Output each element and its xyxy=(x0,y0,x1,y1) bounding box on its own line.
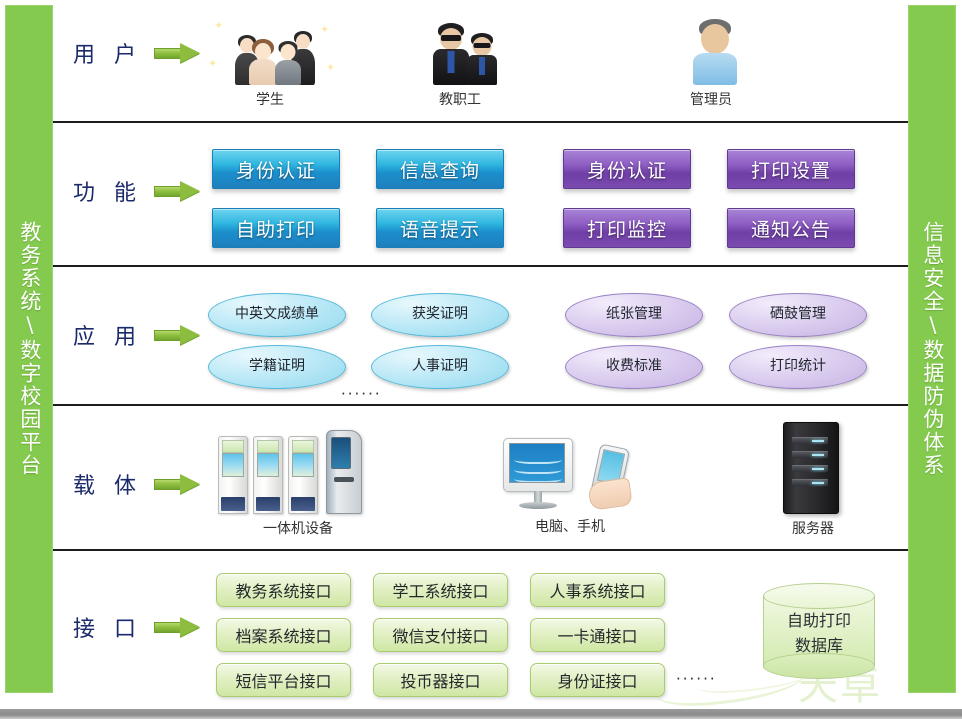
function-button-admin-identity-auth[interactable]: 身份认证 xyxy=(563,149,691,189)
row-interface: 接 口 教务系统接口 学工系统接口 人事系统接口 档案系统接口 微信支付接口 一… xyxy=(53,551,908,693)
row-label-function: 功 能 xyxy=(73,175,200,207)
interface-button-sms-platform[interactable]: 短信平台接口 xyxy=(216,663,351,697)
application-paper-management[interactable]: 纸张管理 xyxy=(565,293,703,337)
computer-and-phone-icon xyxy=(485,426,655,512)
function-button-print-monitor[interactable]: 打印监控 xyxy=(563,208,691,248)
row-label-carrier-text: 载 体 xyxy=(73,468,142,500)
row-label-application: 应 用 xyxy=(73,319,200,351)
application-personnel-proof[interactable]: 人事证明 xyxy=(371,345,509,389)
self-service-print-database: 自助打印 数据库 xyxy=(763,583,875,679)
application-ellipsis: ······ xyxy=(341,385,382,403)
row-label-function-text: 功 能 xyxy=(73,175,142,207)
application-fee-standard[interactable]: 收费标准 xyxy=(565,345,703,389)
arrow-right-icon xyxy=(154,326,200,344)
carrier-kiosk-caption: 一体机设备 xyxy=(208,518,388,538)
application-print-statistics[interactable]: 打印统计 xyxy=(729,345,867,389)
row-user: 用 户 ✦ ✦ ✦ ✦ xyxy=(53,5,908,123)
user-staff: 教职工 xyxy=(380,13,540,109)
application-toner-management[interactable]: 硒鼓管理 xyxy=(729,293,867,337)
architecture-diagram: 天卓 教务系统\数字校园平台 信息安全\数据防伪体系 用 户 ✦ ✦ ✦ ✦ xyxy=(0,0,962,719)
function-button-self-print[interactable]: 自助打印 xyxy=(212,208,340,248)
row-application: 应 用 中英文成绩单 获奖证明 学籍证明 人事证明 纸张管理 硒鼓管理 收费标准… xyxy=(53,267,908,406)
carrier-server: 服务器 xyxy=(743,418,883,538)
application-award-certificate[interactable]: 获奖证明 xyxy=(371,293,509,337)
row-function: 功 能 身份认证 信息查询 自助打印 语音提示 身份认证 打印设置 打印监控 通… xyxy=(53,123,908,267)
arrow-right-icon xyxy=(154,182,200,200)
interface-button-personnel-system[interactable]: 人事系统接口 xyxy=(530,573,665,607)
arrow-right-icon xyxy=(154,475,200,493)
right-banner-text: 信息安全\数据防伪体系 xyxy=(918,221,946,477)
bottom-strip xyxy=(0,709,962,719)
function-button-print-settings[interactable]: 打印设置 xyxy=(727,149,855,189)
left-vertical-banner: 教务系统\数字校园平台 xyxy=(5,5,53,693)
administrator-icon xyxy=(631,13,791,87)
interface-button-wechat-pay[interactable]: 微信支付接口 xyxy=(373,618,508,652)
row-label-interface: 接 口 xyxy=(73,611,200,643)
database-label-line1: 自助打印 xyxy=(763,609,875,634)
user-students-caption: 学生 xyxy=(190,89,350,109)
function-button-identity-auth[interactable]: 身份认证 xyxy=(212,149,340,189)
interface-button-academic-system[interactable]: 教务系统接口 xyxy=(216,573,351,607)
carrier-kiosk: 一体机设备 xyxy=(208,422,388,538)
row-label-interface-text: 接 口 xyxy=(73,611,142,643)
row-label-carrier: 载 体 xyxy=(73,468,200,500)
kiosk-terminal-icon xyxy=(208,422,388,514)
function-button-notice-bulletin[interactable]: 通知公告 xyxy=(727,208,855,248)
interface-button-coin-acceptor[interactable]: 投币器接口 xyxy=(373,663,508,697)
function-button-info-query[interactable]: 信息查询 xyxy=(376,149,504,189)
row-label-application-text: 应 用 xyxy=(73,319,142,351)
user-staff-caption: 教职工 xyxy=(380,89,540,109)
interface-ellipsis: ······ xyxy=(676,670,717,688)
right-vertical-banner: 信息安全\数据防伪体系 xyxy=(908,5,956,693)
staff-icon xyxy=(380,13,540,87)
carrier-computer-phone: 电脑、手机 xyxy=(485,426,655,536)
interface-button-id-card[interactable]: 身份证接口 xyxy=(530,663,665,697)
row-label-user: 用 户 xyxy=(73,37,200,69)
user-students: ✦ ✦ ✦ ✦ xyxy=(190,13,350,109)
database-cylinder-top xyxy=(763,583,875,609)
interface-button-archive-system[interactable]: 档案系统接口 xyxy=(216,618,351,652)
application-bilingual-transcript[interactable]: 中英文成绩单 xyxy=(208,293,346,337)
server-icon xyxy=(743,418,883,514)
row-label-user-text: 用 户 xyxy=(73,37,142,69)
carrier-computer-phone-caption: 电脑、手机 xyxy=(485,516,655,536)
carrier-server-caption: 服务器 xyxy=(743,518,883,538)
arrow-right-icon xyxy=(154,618,200,636)
row-carrier: 载 体 xyxy=(53,406,908,551)
left-banner-text: 教务系统\数字校园平台 xyxy=(15,221,43,477)
user-administrator-caption: 管理员 xyxy=(631,89,791,109)
database-label: 自助打印 数据库 xyxy=(763,609,875,659)
students-group-icon: ✦ ✦ ✦ ✦ xyxy=(190,13,350,87)
database-label-line2: 数据库 xyxy=(763,634,875,659)
user-administrator: 管理员 xyxy=(631,13,791,109)
interface-button-campus-card[interactable]: 一卡通接口 xyxy=(530,618,665,652)
function-button-voice-prompt[interactable]: 语音提示 xyxy=(376,208,504,248)
application-enrollment-proof[interactable]: 学籍证明 xyxy=(208,345,346,389)
diagram-rows: 用 户 ✦ ✦ ✦ ✦ xyxy=(53,5,908,693)
interface-button-student-affairs[interactable]: 学工系统接口 xyxy=(373,573,508,607)
